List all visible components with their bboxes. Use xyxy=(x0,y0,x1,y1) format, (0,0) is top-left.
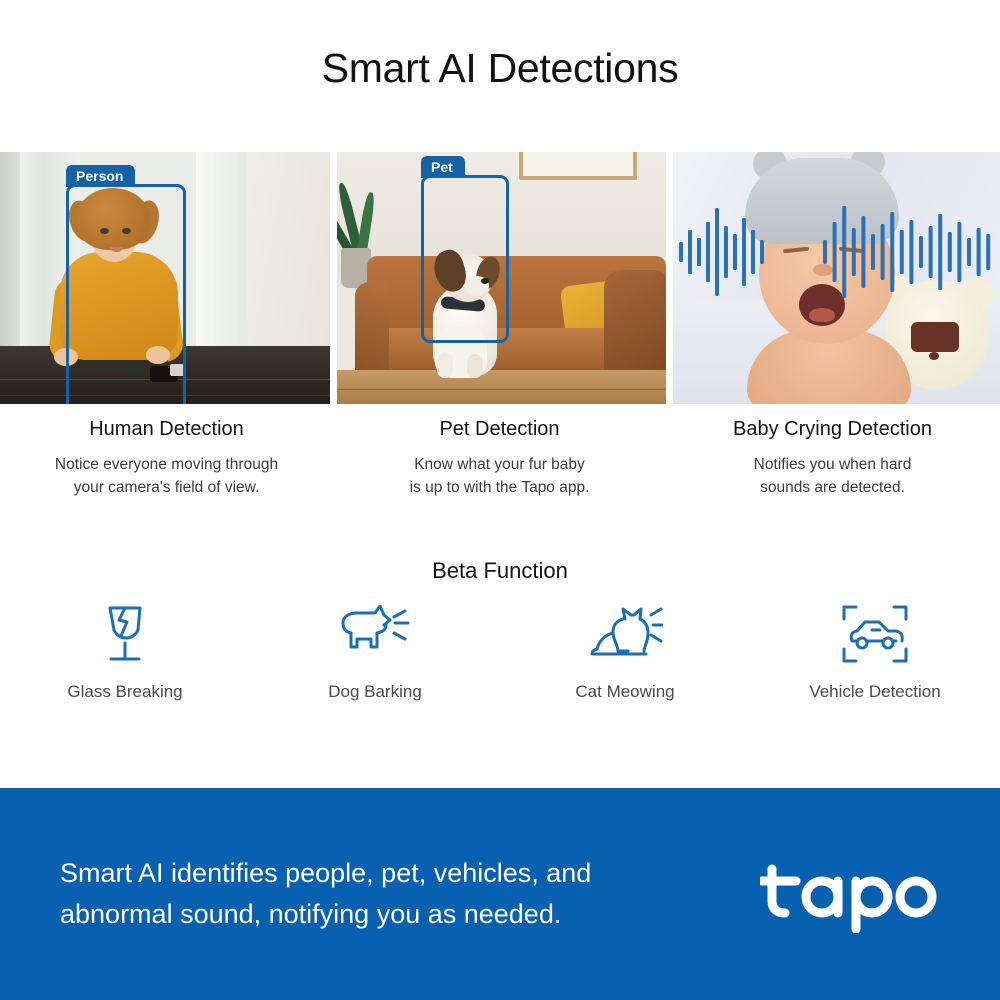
dog-leg-front xyxy=(437,352,453,378)
teddy-nose xyxy=(929,352,939,360)
scene-baby-sleeping xyxy=(673,152,1000,404)
caption-description: Know what your fur baby is up to with th… xyxy=(333,453,666,500)
teddy-muzzle xyxy=(911,322,959,352)
baby-hat xyxy=(745,158,899,244)
caption-desc-line-1: Notice everyone moving through xyxy=(55,456,278,473)
scene-floor xyxy=(337,370,666,404)
beta-item-label: Vehicle Detection xyxy=(750,682,1000,702)
scene-picture-frame xyxy=(519,152,637,180)
sofa-arm-right xyxy=(604,270,666,374)
caption-desc-line-1: Notifies you when hard xyxy=(754,456,912,473)
caption-baby-crying-detection: Baby Crying Detection Notifies you when … xyxy=(666,418,999,500)
detection-label-person: Person xyxy=(66,165,135,187)
scene-floor-line xyxy=(337,389,666,390)
caption-human-detection: Human Detection Notice everyone moving t… xyxy=(0,418,333,500)
page-title: Smart AI Detections xyxy=(0,0,1000,93)
feature-panel-pet: Pet xyxy=(337,152,666,404)
detection-label-pet: Pet xyxy=(421,156,465,178)
beta-item-label: Dog Barking xyxy=(250,682,500,702)
caption-title: Human Detection xyxy=(0,418,333,441)
baby-nose xyxy=(813,264,833,276)
caption-title: Baby Crying Detection xyxy=(666,418,999,441)
beta-item-cat-meowing[interactable]: Cat Meowing xyxy=(500,600,750,702)
feature-panel-human: Person xyxy=(0,152,330,404)
feature-panel-baby xyxy=(673,152,1000,404)
detection-box-person: Person xyxy=(66,184,186,404)
caption-desc-line-2: your camera's field of view. xyxy=(74,479,260,496)
beta-item-dog-barking[interactable]: Dog Barking xyxy=(250,600,500,702)
beta-function-row: Glass Breaking Dog Barking xyxy=(0,600,1000,702)
sofa-arm-left xyxy=(355,282,389,374)
dog-leg-back xyxy=(467,354,483,378)
baby-tongue xyxy=(809,308,835,322)
tapo-logo xyxy=(760,855,942,933)
feature-panel-row: Person xyxy=(0,152,1000,404)
caption-description: Notifies you when hard sounds are detect… xyxy=(666,453,999,500)
vehicle-detection-icon xyxy=(750,600,1000,668)
footer-band: Smart AI identifies people, pet, vehicle… xyxy=(0,788,1000,1000)
broken-glass-icon xyxy=(0,600,250,668)
beta-item-glass-breaking[interactable]: Glass Breaking xyxy=(0,600,250,702)
feature-caption-row: Human Detection Notice everyone moving t… xyxy=(0,418,1000,500)
beta-item-label: Cat Meowing xyxy=(500,682,750,702)
dog-barking-icon xyxy=(250,600,500,668)
detection-box-pet: Pet xyxy=(421,175,509,343)
caption-desc-line-1: Know what your fur baby xyxy=(414,456,585,473)
beta-function-heading: Beta Function xyxy=(0,558,1000,584)
footer-line-2: abnormal sound, notifying you as needed. xyxy=(60,899,561,929)
footer-line-1: Smart AI identifies people, pet, vehicle… xyxy=(60,858,591,888)
caption-title: Pet Detection xyxy=(333,418,666,441)
beta-item-label: Glass Breaking xyxy=(0,682,250,702)
caption-desc-line-2: is up to with the Tapo app. xyxy=(410,479,590,496)
footer-tagline: Smart AI identifies people, pet, vehicle… xyxy=(0,853,591,935)
cat-meowing-icon xyxy=(500,600,750,668)
caption-desc-line-2: sounds are detected. xyxy=(760,479,905,496)
caption-pet-detection: Pet Detection Know what your fur baby is… xyxy=(333,418,666,500)
caption-description: Notice everyone moving through your came… xyxy=(0,453,333,500)
beta-item-vehicle-detection[interactable]: Vehicle Detection xyxy=(750,600,1000,702)
